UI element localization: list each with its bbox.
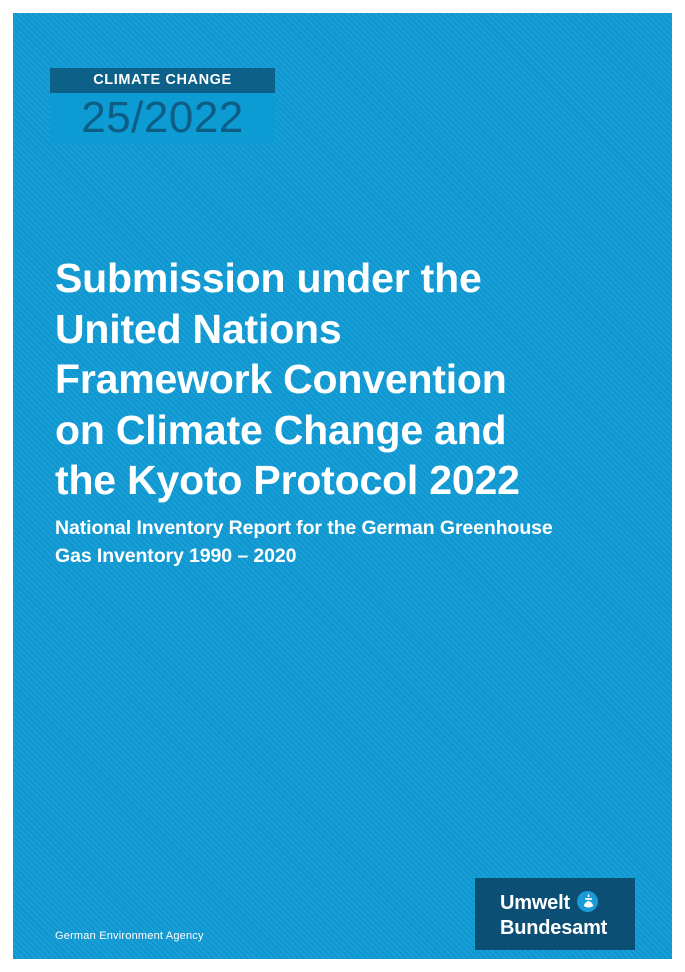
- cover-page: CLIMATE CHANGE 25/2022 Submission under …: [13, 13, 672, 959]
- cover-content: CLIMATE CHANGE 25/2022 Submission under …: [13, 13, 672, 959]
- subtitle-line: Gas Inventory 1990 – 2020: [55, 545, 296, 567]
- subtitle-line: National Inventory Report for the German…: [55, 517, 553, 539]
- series-badge: CLIMATE CHANGE 25/2022: [50, 68, 275, 143]
- title-line: United Nations: [55, 306, 341, 352]
- logo-inner: Umwelt Bundesamt: [500, 891, 625, 941]
- logo-first-line: Umwelt: [500, 891, 625, 917]
- umweltbundesamt-logo: Umwelt Bundesamt: [475, 878, 635, 950]
- title-block: Submission under the United Nations Fram…: [55, 253, 625, 571]
- issue-number: 25/2022: [50, 93, 275, 143]
- logo-text-bundesamt: Bundesamt: [500, 917, 625, 941]
- title-line: Submission under the: [55, 255, 482, 301]
- title-line: Framework Convention: [55, 356, 507, 402]
- title-line: on Climate Change and: [55, 407, 506, 453]
- logo-text-umwelt: Umwelt: [500, 892, 570, 916]
- page-subtitle: National Inventory Report for the German…: [55, 514, 625, 571]
- series-label: CLIMATE CHANGE: [50, 68, 275, 93]
- umweltbundesamt-emblem-icon: [577, 891, 598, 917]
- title-line: the Kyoto Protocol 2022: [55, 457, 520, 503]
- page-title: Submission under the United Nations Fram…: [55, 253, 625, 506]
- agency-name: German Environment Agency: [55, 930, 204, 942]
